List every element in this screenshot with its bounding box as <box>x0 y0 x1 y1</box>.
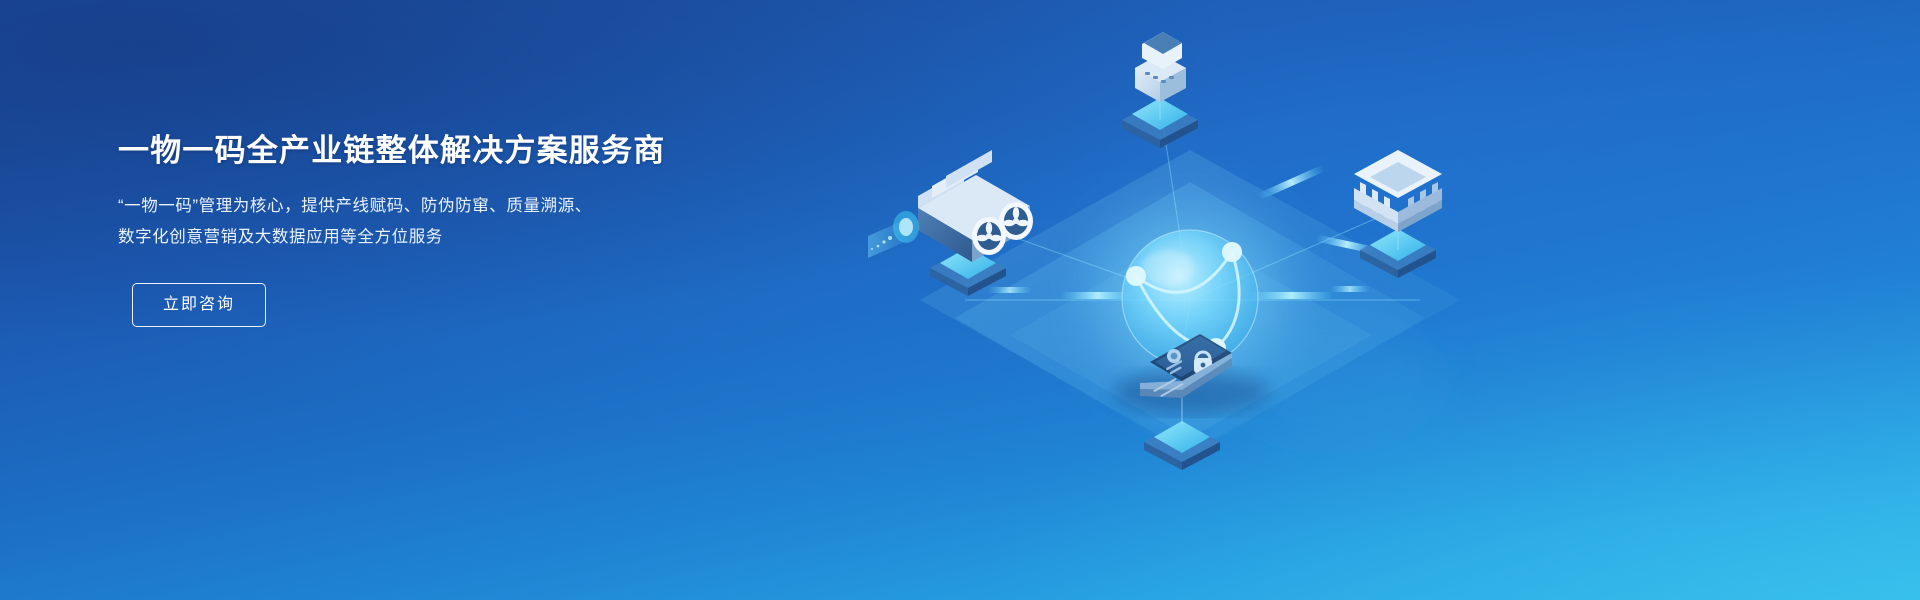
consult-now-button[interactable]: 立即咨询 <box>132 283 266 327</box>
subtitle-line-1: “一物一码”管理为核心，提供产线赋码、防伪防窜、质量溯源、 <box>118 191 758 222</box>
page-title: 一物一码全产业链整体解决方案服务商 <box>118 132 758 169</box>
server-fan-unit-icon <box>868 150 1033 262</box>
bank-building-icon <box>1354 150 1442 232</box>
bank-building-node <box>1354 150 1442 278</box>
hero-banner: 一物一码全产业链整体解决方案服务商 “一物一码”管理为核心，提供产线赋码、防伪防… <box>0 0 1920 600</box>
subtitle-line-2: 数字化创意营销及大数据应用等全方位服务 <box>118 222 758 253</box>
isometric-illustration <box>860 0 1560 600</box>
pos-terminal-icon <box>1135 32 1186 102</box>
hero-copy-block: 一物一码全产业链整体解决方案服务商 “一物一码”管理为核心，提供产线赋码、防伪防… <box>118 132 758 327</box>
hero-subtitle: “一物一码”管理为核心，提供产线赋码、防伪防窜、质量溯源、 数字化创意营销及大数… <box>118 191 758 253</box>
pos-terminal-node <box>1122 32 1198 148</box>
